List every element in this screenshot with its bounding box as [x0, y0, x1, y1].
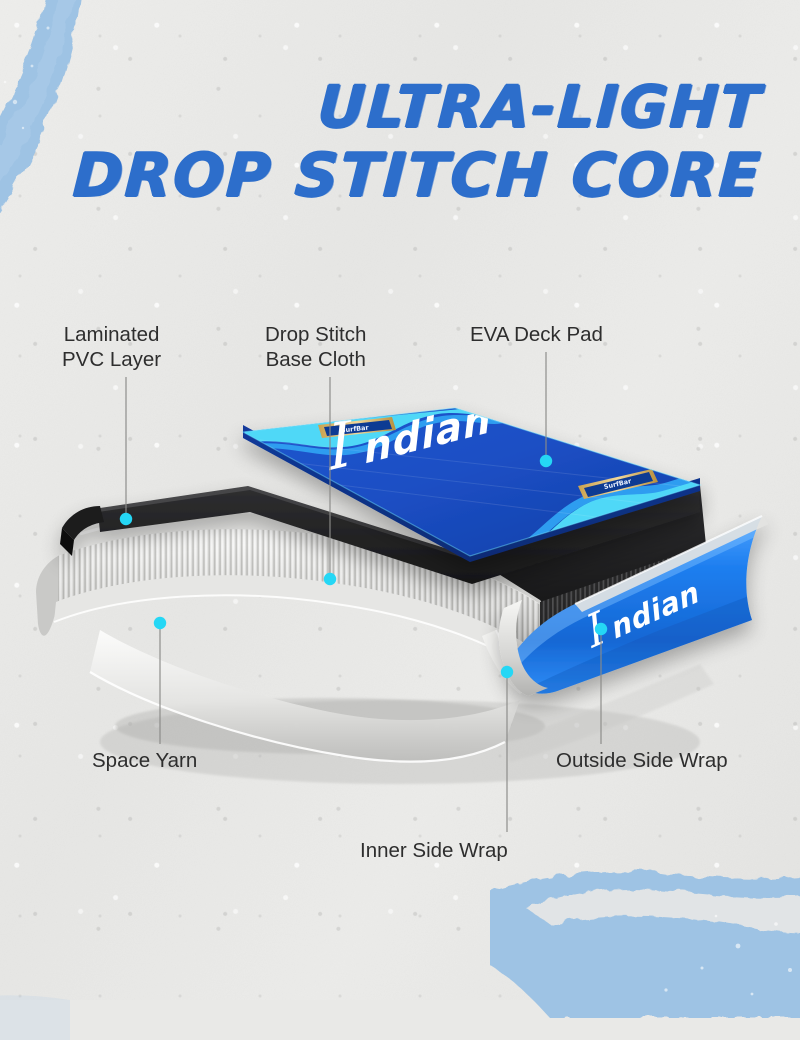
callout-label-drop-stitch-base-cloth: Drop Stitch Base Cloth: [265, 322, 366, 372]
callout-label-space-yarn: Space Yarn: [92, 748, 197, 773]
callout-label-inner-side-wrap: Inner Side Wrap: [360, 838, 508, 863]
callout-label-laminated-pvc-layer: Laminated PVC Layer: [62, 322, 161, 372]
callout-label-eva-deck-pad: EVA Deck Pad: [470, 322, 603, 347]
title-line-1: ULTRA-LIGHT: [0, 78, 764, 136]
page-title: ULTRA-LIGHT DROP STITCH CORE: [0, 78, 800, 206]
svg-text:I: I: [325, 405, 356, 485]
callout-label-outside-side-wrap: Outside Side Wrap: [556, 748, 728, 773]
title-line-2: DROP STITCH CORE: [0, 146, 764, 206]
